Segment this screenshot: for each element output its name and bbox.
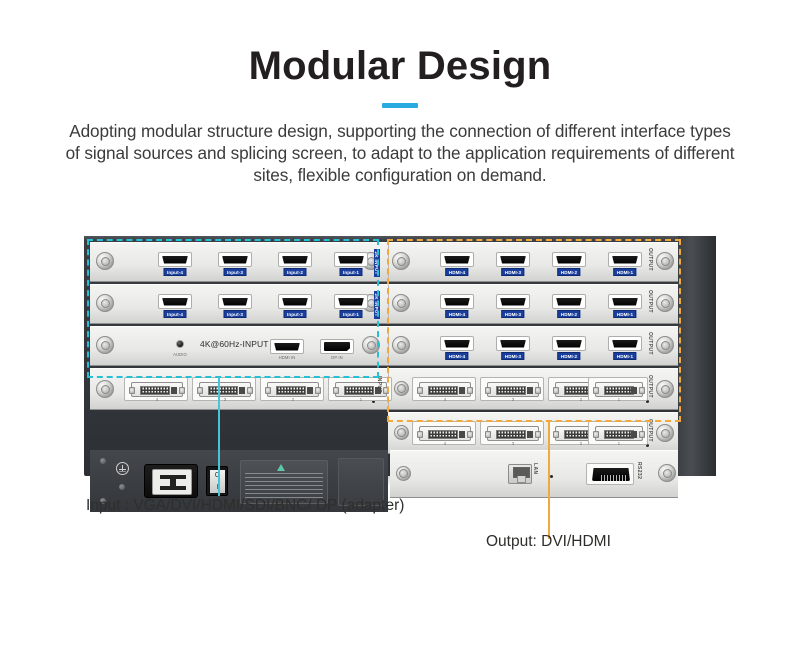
dvi-pin-grid: [428, 430, 458, 439]
dvi-port-input-1[interactable]: 1: [328, 377, 392, 401]
dvi-screw-left: [333, 387, 339, 394]
card-row-dvi-2: 4 3: [388, 412, 678, 454]
card-divider: [388, 285, 389, 323]
dvi-screw-left: [417, 431, 423, 438]
iec-socket: [152, 469, 192, 495]
hdmi-port-output-1[interactable]: [608, 336, 642, 351]
card-vertical-label: 2K INPUT: [374, 249, 380, 277]
port-caption: AUDIO: [173, 352, 187, 357]
dvi-screw-left: [129, 387, 135, 394]
dvi-screw-right: [535, 387, 541, 394]
hdmi-port-output-2[interactable]: [552, 252, 586, 267]
port-caption: 2: [292, 397, 294, 402]
panel-screw: [100, 458, 106, 464]
title-accent-divider: [382, 103, 418, 108]
earth-ground-icon: [116, 462, 129, 475]
port-caption: 1: [360, 397, 362, 402]
dvi-port-output-1[interactable]: 1: [588, 421, 648, 445]
chassis-top-edge: [84, 236, 716, 241]
port-label: Input-3: [223, 310, 246, 318]
dvi-port-output-3[interactable]: 3: [480, 421, 544, 445]
port-label: HDMI-1: [613, 352, 636, 360]
port-caption: 1: [618, 397, 620, 402]
card-vertical-label: OUTPUT: [647, 419, 653, 442]
card-divider: [388, 243, 389, 281]
hdmi-port-output-3[interactable]: [496, 294, 530, 309]
thumbscrew[interactable]: [656, 424, 674, 442]
dvi-screw-right: [639, 431, 645, 438]
hdmi-port-input-4[interactable]: [158, 252, 192, 267]
dvi-port-input-2[interactable]: 2: [260, 377, 324, 401]
card-vertical-label: OUTPUT: [647, 375, 653, 398]
port-caption: HDMI IN: [279, 355, 296, 360]
dvi-port-input-3[interactable]: 3: [192, 377, 256, 401]
power-switch[interactable]: O I: [206, 466, 228, 496]
hdmi-port-output-1[interactable]: [608, 294, 642, 309]
hdmi-port-output-2[interactable]: [552, 294, 586, 309]
port-caption: 2: [580, 441, 582, 446]
port-caption: 4: [444, 441, 446, 446]
thumbscrew[interactable]: [362, 336, 380, 354]
hdmi-port-input-4[interactable]: [158, 294, 192, 309]
port-label: HDMI-4: [445, 268, 468, 276]
dvi-pin-grid: [428, 386, 458, 395]
dvi-pin-grid: [604, 386, 634, 395]
dvi-screw-right: [535, 431, 541, 438]
hdmi-port-output-1[interactable]: [608, 252, 642, 267]
dvi-blade: [631, 431, 637, 438]
audio-jack-port[interactable]: [176, 340, 184, 348]
status-led: [550, 475, 553, 478]
port-label: Input-4: [163, 310, 186, 318]
lan-label: LAN: [532, 463, 538, 474]
dvi-screw-left: [265, 387, 271, 394]
dvi-port-output-4[interactable]: 4: [412, 421, 476, 445]
card-vertical-label: OUTPUT: [647, 332, 653, 355]
dvi-port-output-4[interactable]: 4: [412, 377, 476, 401]
hdmi-port-output-4[interactable]: [440, 336, 474, 351]
dvi-connector: [595, 382, 643, 397]
db9-pin-row: [601, 475, 627, 481]
warning-triangle-icon: [277, 464, 285, 471]
port-caption: 2: [580, 397, 582, 402]
dvi-blade: [459, 431, 465, 438]
port-label: HDMI-1: [613, 268, 636, 276]
dvi-connector: [199, 382, 251, 397]
ground-screw[interactable]: [119, 484, 125, 490]
card-row-hdmi-2: Input-4 Input-3 Input-2 Input-1 2K INPUT…: [90, 284, 678, 324]
port-label: HDMI-3: [501, 352, 524, 360]
port-label: HDMI-4: [445, 352, 468, 360]
output-leader-line: [548, 421, 550, 539]
thumbscrew[interactable]: [656, 294, 674, 312]
thumbscrew[interactable]: [656, 336, 674, 354]
thumbscrew[interactable]: [392, 336, 410, 354]
dvi-screw-left: [593, 431, 599, 438]
dvi-blade: [527, 387, 533, 394]
hdmi-port-input-3[interactable]: [218, 252, 252, 267]
card-divider: [388, 327, 389, 365]
thumbscrew[interactable]: [392, 252, 410, 270]
dvi-blade: [239, 387, 245, 394]
port-label: HDMI-3: [501, 310, 524, 318]
dvi-pin-grid: [604, 430, 634, 439]
dvi-pin-grid: [496, 430, 526, 439]
dvi-connector: [595, 426, 643, 441]
card-row-4k-input: AUDIO 4K@60Hz-INPUT HDMI IN DP IN HDMI-4…: [90, 326, 678, 366]
thumbscrew[interactable]: [396, 466, 411, 481]
dvi-screw-right: [315, 387, 321, 394]
dvi-screw-right: [383, 387, 389, 394]
hdmi-port-input-3[interactable]: [218, 294, 252, 309]
dvi-connector: [131, 382, 183, 397]
dvi-connector: [419, 382, 471, 397]
dvi-screw-right: [467, 387, 473, 394]
port-label: HDMI-1: [613, 310, 636, 318]
page-title: Modular Design: [0, 44, 800, 89]
port-caption: 4: [444, 397, 446, 402]
dvi-port-input-4[interactable]: 4: [124, 377, 188, 401]
dvi-screw-left: [485, 431, 491, 438]
hdmi-in-port[interactable]: [270, 339, 304, 354]
db9-connector: [592, 468, 630, 481]
product-feature-page: Modular Design Adopting modular structur…: [0, 0, 800, 648]
device-rear-panel: Input-4 Input-3 Input-2 Input-1 2K INPUT…: [84, 236, 716, 476]
hdmi-port-output-3[interactable]: [496, 336, 530, 351]
card-row-hdmi-1: Input-4 Input-3 Input-2 Input-1 2K INPUT…: [90, 242, 678, 282]
port-caption: 3: [512, 397, 514, 402]
port-label: HDMI-2: [557, 310, 580, 318]
port-label: Input-3: [223, 268, 246, 276]
thumbscrew[interactable]: [96, 336, 114, 354]
thumbscrew[interactable]: [656, 380, 674, 398]
displayport-in-port[interactable]: [320, 339, 354, 354]
port-label: HDMI-4: [445, 310, 468, 318]
port-label: HDMI-2: [557, 268, 580, 276]
hdmi-port-output-4[interactable]: [440, 252, 474, 267]
dvi-screw-left: [197, 387, 203, 394]
dvi-blade: [527, 431, 533, 438]
port-label: HDMI-3: [501, 268, 524, 276]
port-label: Input-1: [339, 268, 362, 276]
dvi-pin-grid: [344, 386, 374, 395]
rs232-port[interactable]: [586, 463, 634, 485]
lan-port[interactable]: [508, 464, 532, 484]
dvi-screw-left: [553, 387, 559, 394]
dvi-pin-grid: [140, 386, 170, 395]
dvi-connector: [419, 426, 471, 441]
card-vertical-label: OUTPUT: [647, 290, 653, 313]
port-caption: 3: [512, 441, 514, 446]
card-vertical-label: INPUT: [376, 376, 382, 393]
dvi-blade: [631, 387, 637, 394]
dvi-blade: [307, 387, 313, 394]
port-label: Input-2: [283, 310, 306, 318]
port-label: Input-1: [339, 310, 362, 318]
output-caption: Output: DVI/HDMI: [486, 533, 611, 551]
dvi-port-output-3[interactable]: 3: [480, 377, 544, 401]
thumbscrew[interactable]: [394, 381, 409, 396]
dvi-port-output-1[interactable]: 1: [588, 377, 648, 401]
page-subtitle: Adopting modular structure design, suppo…: [60, 120, 740, 186]
hdmi-port-input-2[interactable]: [278, 294, 312, 309]
iec-pin: [170, 479, 176, 487]
dvi-blade: [459, 387, 465, 394]
dvi-screw-right: [247, 387, 253, 394]
port-caption: 3: [224, 397, 226, 402]
hdmi-port-output-2[interactable]: [552, 336, 586, 351]
card-vertical-label: OUTPUT: [647, 248, 653, 271]
dvi-connector: [487, 426, 539, 441]
port-caption: 1: [618, 441, 620, 446]
dvi-screw-left: [417, 387, 423, 394]
chassis-right-side: [678, 236, 716, 476]
power-inlet-iec[interactable]: [144, 464, 198, 498]
dvi-screw-left: [593, 387, 599, 394]
rs232-label: RS232: [636, 462, 642, 479]
dvi-screw-right: [639, 387, 645, 394]
card-vertical-label: 2K INPUT: [374, 291, 380, 319]
thumbscrew[interactable]: [96, 294, 114, 312]
thumbscrew[interactable]: [656, 252, 674, 270]
port-caption: 4: [156, 397, 158, 402]
dvi-pin-grid: [276, 386, 306, 395]
port-label: Input-2: [283, 268, 306, 276]
dvi-screw-left: [553, 431, 559, 438]
hdmi-port-output-4[interactable]: [440, 294, 474, 309]
port-label: Input-4: [163, 268, 186, 276]
port-caption: DP IN: [331, 355, 343, 360]
thumbscrew[interactable]: [658, 464, 676, 482]
dvi-connector: [487, 382, 539, 397]
input-leader-line: [218, 377, 220, 496]
thumbscrew[interactable]: [394, 425, 409, 440]
dvi-pin-grid: [496, 386, 526, 395]
dvi-pin-grid: [208, 386, 238, 395]
hdmi-port-input-2[interactable]: [278, 252, 312, 267]
hdmi-port-input-1[interactable]: [334, 252, 368, 267]
dvi-connector: [267, 382, 319, 397]
port-label: HDMI-2: [557, 352, 580, 360]
thumbscrew[interactable]: [96, 252, 114, 270]
dvi-screw-left: [485, 387, 491, 394]
dvi-screw-right: [179, 387, 185, 394]
control-card: LAN RS232: [390, 450, 678, 498]
dvi-screw-right: [467, 431, 473, 438]
thumbscrew[interactable]: [392, 294, 410, 312]
card-title-4k-input: 4K@60Hz-INPUT: [200, 339, 269, 349]
hdmi-port-input-1[interactable]: [334, 294, 368, 309]
thumbscrew[interactable]: [96, 380, 114, 398]
input-caption: Input : VGA/DVI/HDMI/SDI/BNC/ DP (adapte…: [86, 497, 404, 515]
card-stack: Input-4 Input-3 Input-2 Input-1 2K INPUT…: [90, 242, 678, 470]
hdmi-port-output-3[interactable]: [496, 252, 530, 267]
card-row-dvi-1: 4 3: [90, 368, 678, 410]
dvi-blade: [171, 387, 177, 394]
